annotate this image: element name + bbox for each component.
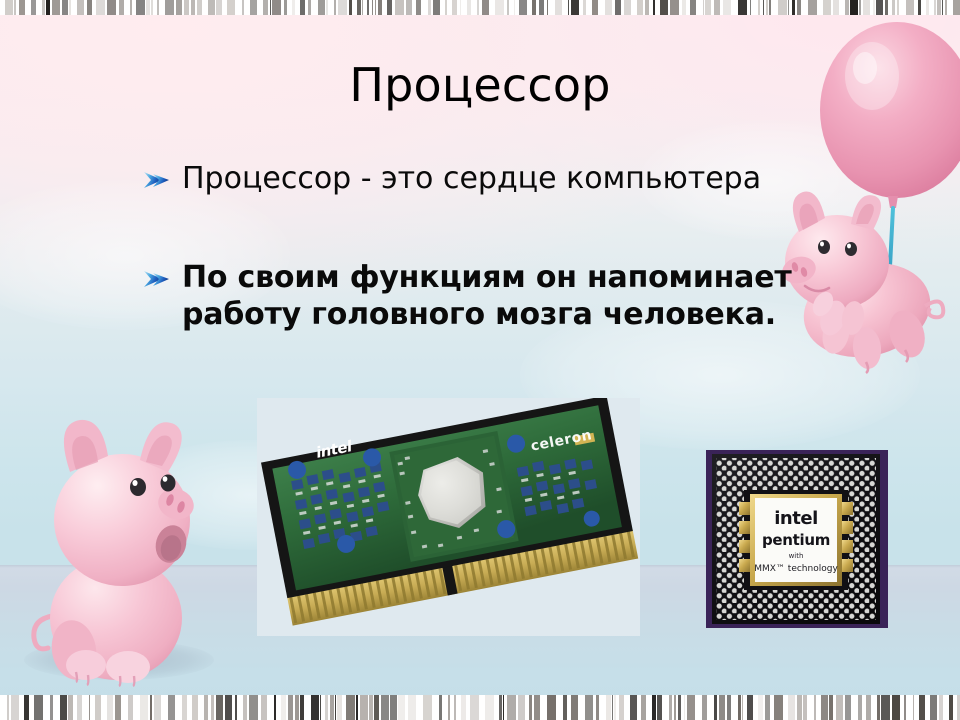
barcode-bar: [926, 0, 929, 15]
barcode-bar: [529, 695, 532, 720]
barcode-bar: [68, 695, 73, 720]
barcode-bar: [398, 695, 405, 720]
barcode-bar: [357, 0, 361, 15]
barcode-bar: [808, 0, 817, 15]
barcode-bar: [272, 0, 281, 15]
barcode-bar: [390, 695, 397, 720]
barcode-bar: [356, 695, 358, 720]
barcode-bar: [495, 0, 504, 15]
barcode-bar: [130, 0, 132, 15]
barcode-bar: [863, 0, 870, 15]
blue-arrow-bullet-icon: [142, 263, 172, 297]
barcode-bar: [46, 0, 50, 15]
barcode-bar: [7, 695, 9, 720]
blue-arrow-bullet-icon: [142, 164, 172, 198]
barcode-bar: [788, 0, 789, 15]
barcode-bar: [592, 0, 598, 15]
barcode-bar: [24, 695, 29, 720]
barcode-bar: [514, 0, 515, 15]
svg-text:intel: intel: [774, 508, 817, 529]
barcode-bar: [150, 695, 152, 720]
barcode-bar: [346, 695, 355, 720]
barcode-bar: [325, 695, 328, 720]
barcode-bar: [797, 0, 801, 15]
barcode-bar: [918, 0, 921, 15]
barcode-bar: [69, 0, 71, 15]
barcode-bar: [539, 0, 544, 15]
barcode-bar: [318, 0, 325, 15]
barcode-bar: [596, 695, 599, 720]
barcode-bar: [460, 0, 461, 15]
barcode-bar: [50, 695, 53, 720]
barcode-bar: [742, 695, 743, 720]
barcode-bar: [919, 695, 925, 720]
barcode-bar: [747, 695, 753, 720]
barcode-bar: [630, 695, 637, 720]
barcode-bar: [829, 695, 833, 720]
barcode-bar: [499, 695, 502, 720]
barcode-bar: [873, 0, 875, 15]
barcode-bar: [96, 0, 105, 15]
barcode-bar: [288, 695, 293, 720]
barcode-bar: [653, 0, 655, 15]
barcode-bar: [866, 695, 871, 720]
barcode-bar: [719, 695, 725, 720]
barcode-bar: [571, 0, 579, 15]
barcode-bar: [823, 0, 831, 15]
barcode-bar: [897, 0, 899, 15]
barcode-bar: [788, 695, 795, 720]
barcode-bar: [503, 695, 504, 720]
barcode-bar: [821, 695, 828, 720]
barcode-bar: [858, 695, 862, 720]
barcode-bar: [367, 0, 369, 15]
barcode-bar: [270, 0, 271, 15]
barcode-bar: [482, 0, 489, 15]
barcode-bar: [14, 0, 16, 15]
barcode-bar: [140, 695, 148, 720]
barcode-bar: [727, 695, 731, 720]
barcode-bar: [723, 0, 731, 15]
barcode-bar: [758, 695, 763, 720]
barcode-bar: [77, 695, 82, 720]
barcode-bar: [766, 0, 768, 15]
barcode-bar: [845, 0, 849, 15]
barcode-bar: [227, 0, 235, 15]
barcode-bar: [738, 0, 747, 15]
intel-pentium-mmx-processor-image: intel pentium with MMX™ technology: [706, 450, 888, 628]
barcode-bar: [687, 695, 695, 720]
barcode-bar: [485, 695, 494, 720]
barcode-bar: [942, 0, 943, 15]
barcode-bar: [77, 0, 84, 15]
barcode-bar: [637, 0, 643, 15]
barcode-bar: [192, 695, 198, 720]
barcode-bar: [814, 695, 816, 720]
list-item: По своим функциям он напоминает работу г…: [142, 259, 862, 333]
barcode-bar: [216, 695, 223, 720]
barcode-bar: [461, 695, 466, 720]
barcode-bar: [797, 695, 802, 720]
barcode-bar: [750, 0, 751, 15]
barcode-bar: [369, 695, 373, 720]
barcode-bar: [208, 0, 215, 15]
barcode-bar: [235, 695, 237, 720]
barcode-bar: [34, 695, 43, 720]
barcode-bar: [507, 0, 509, 15]
barcode-bar: [470, 695, 479, 720]
barcode-bar: [641, 695, 646, 720]
barcode-bar: [585, 695, 593, 720]
barcode-bar: [320, 695, 321, 720]
list-item-label: Процессор - это сердце компьютера: [182, 160, 761, 197]
barcode-bar: [845, 695, 851, 720]
barcode-bar: [507, 695, 516, 720]
barcode-bar: [690, 0, 696, 15]
barcode-bar: [534, 695, 540, 720]
barcode-bar: [360, 695, 368, 720]
barcode-bar: [769, 0, 771, 15]
barcode-bar: [939, 695, 943, 720]
barcode-bar: [763, 0, 764, 15]
barcode-strip-bottom: [0, 695, 960, 720]
barcode-bar: [362, 0, 363, 15]
barcode-bar: [249, 695, 258, 720]
barcode-bar: [836, 695, 843, 720]
barcode-bar: [949, 695, 953, 720]
barcode-bar: [850, 0, 858, 15]
barcode-bar: [433, 0, 440, 15]
barcode-bar: [372, 0, 373, 15]
barcode-bar: [151, 0, 153, 15]
barcode-bar: [378, 0, 382, 15]
barcode-bar: [387, 0, 392, 15]
barcode-bar: [703, 0, 704, 15]
barcode-bar: [154, 695, 161, 720]
barcode-bar: [225, 695, 232, 720]
barcode-bar: [937, 0, 941, 15]
barcode-bar: [184, 0, 189, 15]
barcode-bar: [157, 0, 159, 15]
barcode-bar: [682, 0, 686, 15]
barcode-bar: [877, 695, 880, 720]
barcode-strip-top: [0, 0, 960, 15]
barcode-bar: [128, 695, 133, 720]
barcode-bar: [168, 695, 175, 720]
barcode-bar: [765, 695, 770, 720]
barcode-bar: [934, 0, 936, 15]
barcode-bar: [89, 695, 90, 720]
barcode-bar: [519, 0, 527, 15]
barcode-bar: [657, 695, 662, 720]
barcode-bar: [374, 695, 379, 720]
barcode-bar: [211, 695, 214, 720]
barcode-bar: [292, 0, 295, 15]
barcode-bar: [532, 0, 536, 15]
barcode-bar: [52, 0, 60, 15]
barcode-bar: [308, 0, 311, 15]
barcode-bar: [381, 695, 389, 720]
barcode-bar: [660, 0, 668, 15]
barcode-bar: [416, 0, 421, 15]
barcode-bar: [263, 0, 268, 15]
barcode-bar: [197, 0, 202, 15]
barcode-bar: [930, 695, 937, 720]
barcode-bar: [624, 0, 631, 15]
barcode-bar: [702, 695, 707, 720]
barcode-bar: [31, 0, 36, 15]
barcode-bar: [555, 0, 562, 15]
barcode-bar: [615, 0, 621, 15]
barcode-bar: [467, 0, 471, 15]
barcode-bar: [678, 695, 681, 720]
barcode-bar: [605, 0, 612, 15]
barcode-bar: [892, 695, 900, 720]
barcode-bar: [5, 0, 13, 15]
barcode-bar: [330, 695, 334, 720]
barcode-bar: [11, 695, 19, 720]
barcode-bar: [428, 0, 431, 15]
barcode-bar: [95, 695, 101, 720]
barcode-bar: [295, 695, 299, 720]
barcode-bar: [261, 695, 267, 720]
barcode-bar: [885, 0, 888, 15]
barcode-bar: [792, 0, 795, 15]
barcode-bar: [645, 0, 649, 15]
barcode-bar: [408, 695, 416, 720]
barcode-bar: [146, 0, 150, 15]
intel-celeron-processor-image: intel celeron: [257, 398, 640, 636]
page-title: Процессор: [0, 62, 960, 108]
barcode-bar: [568, 0, 569, 15]
barcode-bar: [326, 0, 328, 15]
barcode-bar: [774, 695, 783, 720]
barcode-bar: [311, 695, 319, 720]
barcode-bar: [337, 695, 342, 720]
barcode-bar: [738, 695, 741, 720]
barcode-bar: [136, 0, 145, 15]
barcode-bar: [684, 695, 685, 720]
slide-canvas: Процессор Процессор - это сердце компьют…: [0, 0, 960, 720]
barcode-bar: [107, 695, 113, 720]
barcode-bar: [243, 695, 247, 720]
barcode-bar: [439, 695, 442, 720]
barcode-bar: [62, 0, 68, 15]
barcode-bar: [406, 0, 412, 15]
barcode-bar: [714, 0, 720, 15]
barcode-bar: [349, 0, 352, 15]
barcode-bar: [547, 0, 548, 15]
barcode-bar: [165, 0, 174, 15]
barcode-bar: [300, 695, 304, 720]
barcode-bar: [423, 695, 432, 720]
barcode-bar: [191, 0, 195, 15]
barcode-bar: [395, 0, 404, 15]
barcode-bar: [778, 0, 787, 15]
barcode-bar: [42, 0, 45, 15]
barcode-bar: [669, 695, 672, 720]
barcode-bar: [571, 695, 578, 720]
bullet-list: Процессор - это сердце компьютера По сво…: [142, 160, 862, 333]
sitting-pig: [18, 400, 238, 700]
barcode-bar: [274, 695, 276, 720]
barcode-bar: [881, 695, 890, 720]
barcode-bar: [454, 695, 456, 720]
barcode-bar: [547, 695, 556, 720]
barcode-bar: [335, 695, 336, 720]
barcode-bar: [107, 0, 116, 15]
barcode-bar: [242, 0, 244, 15]
barcode-bar: [904, 695, 906, 720]
barcode-bar: [714, 695, 717, 720]
barcode-bar: [876, 0, 883, 15]
barcode-bar: [375, 0, 376, 15]
barcode-bar: [281, 695, 286, 720]
barcode-bar: [176, 0, 182, 15]
barcode-bar: [619, 695, 624, 720]
barcode-bar: [334, 0, 336, 15]
barcode-bar: [892, 0, 895, 15]
barcode-bar: [445, 0, 447, 15]
barcode-bar: [182, 695, 187, 720]
barcode-bar: [705, 0, 711, 15]
barcode-bar: [945, 0, 947, 15]
barcode-bar: [119, 0, 124, 15]
barcode-bar: [652, 695, 656, 720]
barcode-bar: [338, 0, 347, 15]
barcode-bar: [859, 0, 861, 15]
barcode-bar: [250, 0, 257, 15]
svg-text:pentium: pentium: [762, 531, 830, 549]
barcode-bar: [803, 695, 807, 720]
list-item-label: По своим функциям он напоминает работу г…: [182, 259, 862, 333]
barcode-bar: [670, 0, 679, 15]
barcode-bar: [300, 0, 305, 15]
barcode-bar: [583, 0, 586, 15]
barcode-bar: [60, 695, 67, 720]
barcode-bar: [758, 0, 760, 15]
barcode-bar: [477, 0, 479, 15]
barcode-bar: [19, 0, 25, 15]
barcode-bar: [606, 695, 611, 720]
barcode-bar: [204, 695, 208, 720]
barcode-bar: [913, 695, 914, 720]
list-item: Процессор - это сердце компьютера: [142, 160, 862, 197]
barcode-bar: [674, 695, 676, 720]
barcode-bar: [518, 695, 525, 720]
barcode-bar: [563, 695, 567, 720]
svg-text:MMX™ technology: MMX™ technology: [754, 564, 838, 574]
barcode-bar: [452, 0, 457, 15]
barcode-bar: [906, 0, 914, 15]
barcode-bar: [448, 695, 450, 720]
barcode-bar: [87, 0, 92, 15]
barcode-bar: [953, 0, 960, 15]
barcode-bar: [115, 695, 121, 720]
barcode-bar: [612, 695, 613, 720]
barcode-bar: [614, 695, 616, 720]
barcode-bar: [833, 0, 839, 15]
barcode-bar: [284, 0, 287, 15]
barcode-bar: [216, 0, 222, 15]
svg-text:with: with: [789, 552, 804, 560]
